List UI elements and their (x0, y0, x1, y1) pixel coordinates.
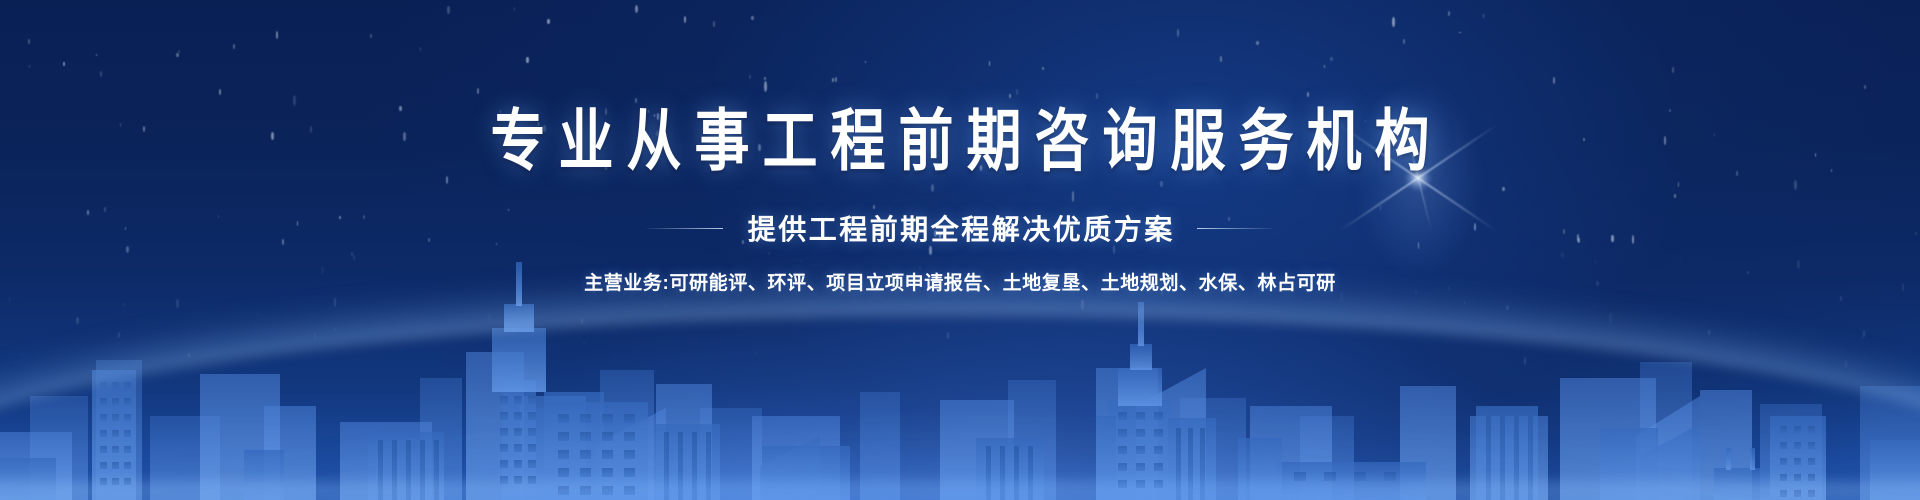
star-particle (1392, 17, 1395, 27)
star-particle (764, 81, 767, 92)
star-particle (832, 78, 834, 82)
star-particle (1220, 56, 1222, 62)
star-particle (219, 89, 221, 96)
star-particle (28, 39, 29, 44)
star-particle (1794, 180, 1797, 190)
star-particle (1674, 194, 1676, 198)
star-particle (835, 77, 837, 82)
star-particle (1553, 77, 1556, 84)
star-particle (1502, 187, 1505, 192)
star-particle (370, 34, 373, 38)
star-particle (100, 71, 102, 77)
star-particle (477, 88, 479, 95)
star-particle (989, 61, 991, 66)
rule-right-icon (1197, 228, 1273, 229)
star-particle (749, 75, 751, 79)
star-particle (1016, 89, 1018, 95)
star-particle (1403, 39, 1405, 45)
star-particle (293, 95, 296, 105)
star-particle (526, 57, 528, 62)
star-particle (1483, 14, 1484, 18)
star-particle (420, 47, 422, 50)
star-particle (1672, 67, 1675, 73)
star-particle (1324, 65, 1325, 69)
star-particle (1448, 11, 1451, 16)
star-particle (865, 61, 866, 64)
hero-banner: 专业从事工程前期咨询服务机构 提供工程前期全程解决优质方案 主营业务:可研能评、… (0, 0, 1920, 500)
star-particle (1307, 92, 1310, 97)
star-particle (178, 50, 180, 53)
banner-headline: 专业从事工程前期咨询服务机构 (0, 108, 1920, 175)
banner-subtitle: 提供工程前期全程解决优质方案 (745, 208, 1175, 248)
star-particle (96, 54, 97, 56)
star-particle (514, 7, 516, 11)
star-particle (1330, 57, 1333, 61)
star-particle (446, 176, 448, 183)
star-particle (713, 21, 715, 27)
star-particle (764, 77, 766, 80)
banner-subtitle-row: 提供工程前期全程解决优质方案 (0, 208, 1920, 248)
star-particle (176, 53, 179, 57)
star-particle (684, 16, 686, 23)
star-particle (1864, 85, 1866, 89)
rule-left-icon (647, 228, 723, 229)
star-particle (1256, 41, 1259, 45)
star-particle (1009, 94, 1011, 98)
star-particle (1160, 181, 1163, 187)
star-particle (1072, 191, 1075, 201)
star-particle (1678, 182, 1680, 187)
city-skyline (0, 210, 1920, 500)
star-particle (29, 65, 31, 68)
star-particle (751, 16, 754, 21)
star-particle (931, 184, 934, 192)
star-particle (1042, 67, 1044, 70)
star-particle (547, 19, 550, 23)
star-particle (635, 5, 638, 13)
star-particle (276, 31, 279, 40)
star-particle (1459, 32, 1460, 34)
star-particle (63, 62, 65, 66)
star-particle (1096, 93, 1098, 99)
star-particle (447, 6, 449, 14)
banner-business-scope: 主营业务:可研能评、环评、项目立项申请报告、土地复垦、土地规划、水保、林占可研 (0, 268, 1920, 295)
star-particle (233, 44, 235, 50)
star-particle (1177, 29, 1180, 38)
